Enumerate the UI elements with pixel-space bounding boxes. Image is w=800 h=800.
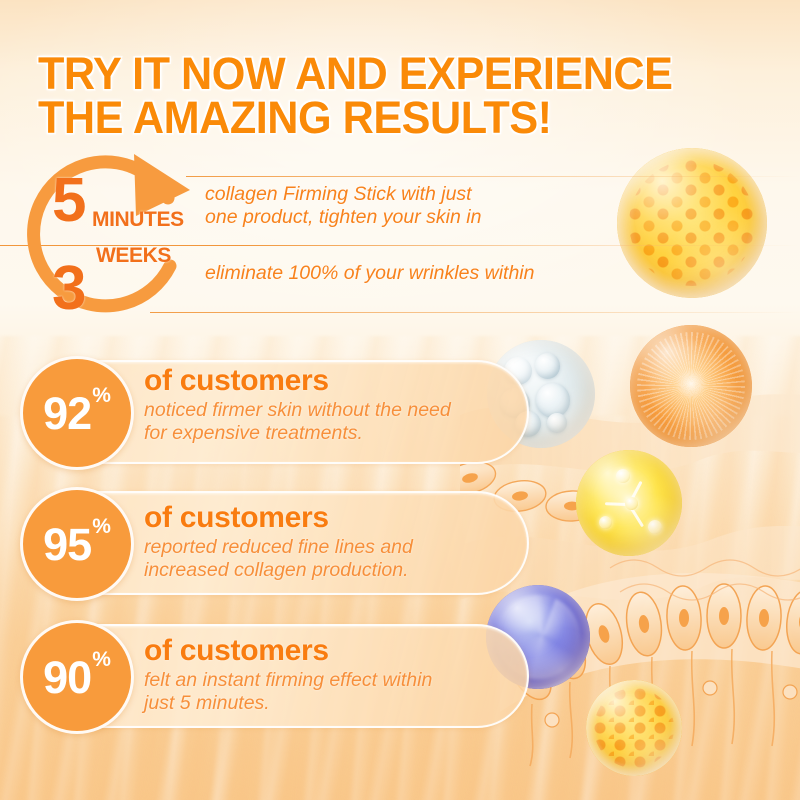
callout-text-weeks: eliminate 100% of your wrinkles within [205,262,645,285]
stat-percent-value-90: 90 [43,655,91,700]
stat-desc-95-line-2: increased collagen production. [144,559,514,582]
stat-body-95: of customers reported reduced fine lines… [144,501,514,582]
percent-symbol-90: % [92,649,111,670]
percent-symbol-92: % [92,385,111,406]
callout-weeks-line-1: eliminate 100% of your wrinkles within [205,262,645,285]
minutes-number: 5 [52,170,86,232]
stat-percent-value-95: 95 [43,522,91,567]
poster-canvas: TRY IT NOW AND EXPERIENCE THE AMAZING RE… [0,0,800,800]
stat-desc-95-line-1: reported reduced fine lines and [144,536,514,559]
divider-line-bottom [150,312,800,313]
divider-line-top [186,176,800,177]
callout-minutes-line-2: one product, tighten your skin in [205,206,625,229]
stat-row-95: of customers reported reduced fine lines… [20,487,510,595]
stat-desc-90-line-2: just 5 minutes. [144,692,514,715]
minutes-unit: MINUTES [92,208,184,232]
stat-circle-90: 90 % [20,620,134,734]
stat-title-90: of customers [144,634,514,668]
stat-circle-92: 92 % [20,356,134,470]
percent-symbol-95: % [92,516,111,537]
stat-percent-92: 92 % [23,359,131,467]
stat-desc-92-line-2: for expensive treatments. [144,422,514,445]
stat-percent-90: 90 % [23,623,131,731]
stat-body-92: of customers noticed firmer skin without… [144,364,514,445]
stat-percent-95: 95 % [23,490,131,598]
stat-desc-90: felt an instant firming effect within ju… [144,669,514,715]
stat-desc-95: reported reduced fine lines and increase… [144,536,514,582]
stat-body-90: of customers felt an instant firming eff… [144,634,514,715]
stat-row-92: of customers noticed firmer skin without… [20,356,510,464]
stat-row-90: of customers felt an instant firming eff… [20,620,510,728]
weeks-number: 3 [52,258,86,320]
background-silk-streaks-secondary [0,416,800,800]
callout-minutes-line-1: collagen Firming Stick with just [205,183,625,206]
stat-circle-95: 95 % [20,487,134,601]
stat-desc-92-line-1: noticed firmer skin without the need [144,399,514,422]
stat-desc-92: noticed firmer skin without the need for… [144,399,514,445]
page-title: TRY IT NOW AND EXPERIENCE THE AMAZING RE… [38,52,739,140]
weeks-unit: WEEKS [96,244,171,268]
stat-percent-value-92: 92 [43,391,91,436]
callout-text-minutes: collagen Firming Stick with just one pro… [205,183,625,229]
headline-line-2: THE AMAZING RESULTS! [38,96,739,140]
stat-title-92: of customers [144,364,514,398]
stat-desc-90-line-1: felt an instant firming effect within [144,669,514,692]
stat-title-95: of customers [144,501,514,535]
